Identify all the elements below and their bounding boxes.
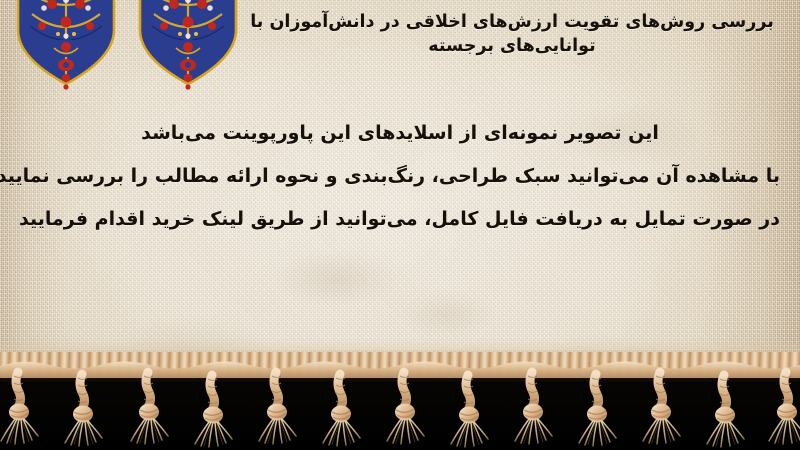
body-line-1: این تصویر نمونه‌ای از اسلایدهای این پاور…	[20, 112, 780, 155]
slide-canvas: بررسی روش‌های تقویت ارزش‌های اخلاقی در د…	[0, 0, 800, 450]
body-line-3: در صورت تمایل به دریافت فایل کامل، می‌تو…	[20, 198, 780, 241]
slide-title: بررسی روش‌های تقویت ارزش‌های اخلاقی در د…	[236, 11, 788, 58]
body-line-2: با مشاهده آن می‌توانید سبک طراحی، رنگ‌بن…	[20, 155, 780, 198]
carpet-fringe-tassel-icon	[0, 352, 800, 450]
persian-illumination-medallion-icon	[14, 0, 118, 90]
persian-illumination-medallion-icon	[136, 0, 240, 90]
slide-title-line-1: بررسی روش‌های تقویت ارزش‌های اخلاقی در د…	[236, 11, 788, 35]
slide-body-text: این تصویر نمونه‌ای از اسلایدهای این پاور…	[20, 112, 780, 241]
slide-title-line-2: توانایی‌های برجسته	[236, 35, 788, 59]
